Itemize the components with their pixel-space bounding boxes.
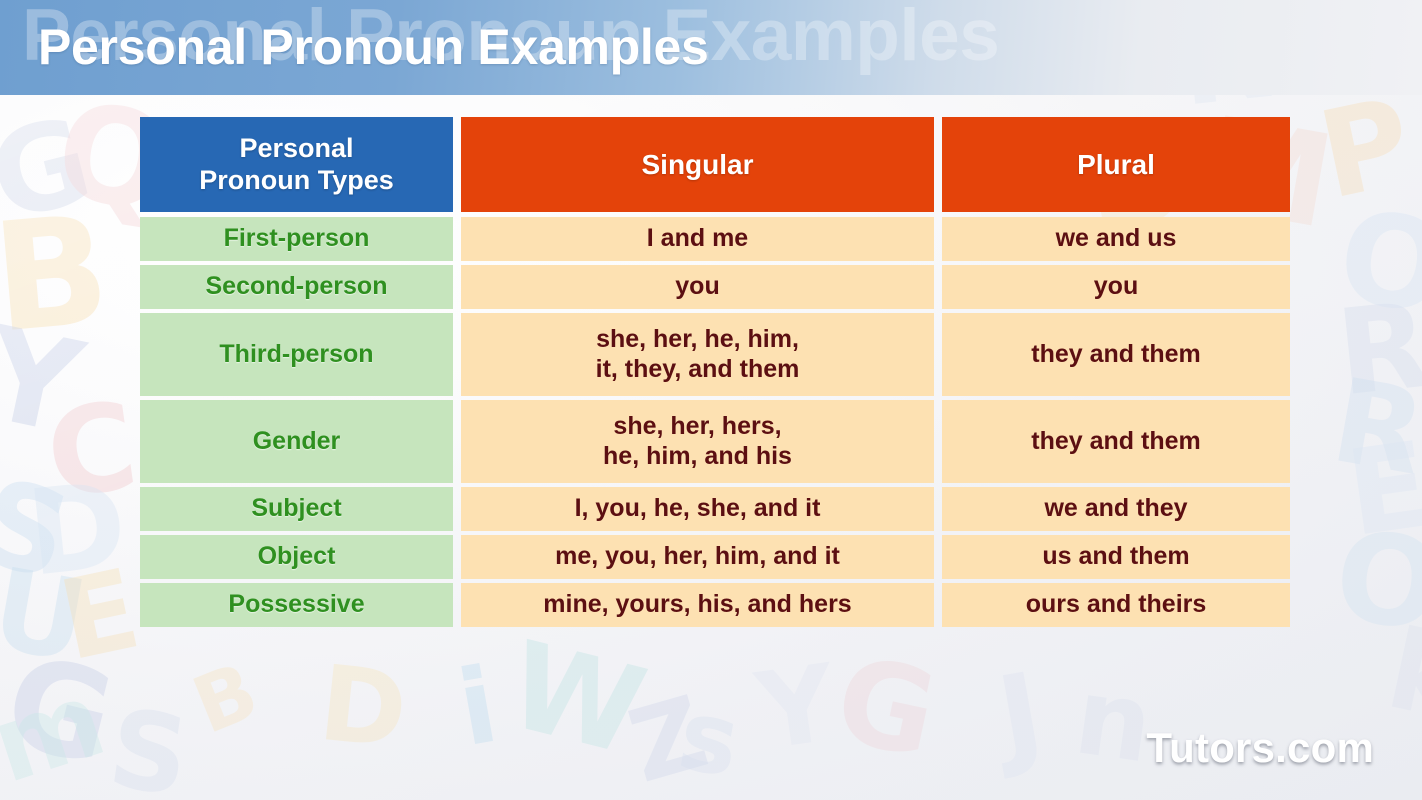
cell-singular-line1: you	[675, 272, 719, 302]
column-header-line1: Personal	[199, 133, 394, 165]
cell-pronoun-type: Gender	[140, 400, 453, 483]
table-row: SubjectI, you, he, she, and itwe and the…	[140, 487, 1282, 531]
cell-plural: you	[942, 265, 1290, 309]
column-header-singular: Singular	[461, 117, 934, 212]
cell-singular-line1: me, you, her, him, and it	[555, 542, 840, 572]
cell-singular-line1: I and me	[647, 224, 748, 254]
cell-plural: they and them	[942, 313, 1290, 396]
cell-pronoun-type: Object	[140, 535, 453, 579]
cell-singular: you	[461, 265, 934, 309]
background-letter: J	[991, 657, 1050, 772]
table-row: Second-personyouyou	[140, 265, 1282, 309]
cell-singular-line1: she, her, he, him,	[596, 325, 800, 355]
page-title: Personal Pronoun Examples	[38, 18, 708, 76]
cell-singular-line2: it, they, and them	[596, 355, 800, 385]
table-row: Objectme, you, her, him, and itus and th…	[140, 535, 1282, 579]
background-letter: G	[827, 639, 946, 775]
cell-pronoun-type: Possessive	[140, 583, 453, 627]
cell-singular: I and me	[461, 217, 934, 261]
cell-singular: I, you, he, she, and it	[461, 487, 934, 531]
cell-singular-line2: he, him, and his	[603, 442, 792, 472]
background-letter: D	[315, 651, 412, 763]
table-header-row: Personal Pronoun Types Singular Plural	[140, 117, 1282, 212]
cell-singular: me, you, her, him, and it	[461, 535, 934, 579]
table-row: Possessivemine, yours, his, and hersours…	[140, 583, 1282, 627]
table-row: Gendershe, her, hers,he, him, and histhe…	[140, 400, 1282, 483]
cell-pronoun-type: Subject	[140, 487, 453, 531]
table-row: First-personI and mewe and us	[140, 217, 1282, 261]
cell-plural: they and them	[942, 400, 1290, 483]
table-body: First-personI and mewe and usSecond-pers…	[140, 217, 1282, 627]
cell-singular-line1: she, her, hers,	[603, 412, 792, 442]
brand-logo: Tutors.com	[1146, 724, 1374, 772]
table-row: Third-personshe, her, he, him,it, they, …	[140, 313, 1282, 396]
infographic-canvas: GQBYCSDUEGmSBDiWZsYGJnPORREOBMNk Persona…	[0, 0, 1422, 800]
cell-plural: we and they	[942, 487, 1290, 531]
cell-singular-line1: I, you, he, she, and it	[575, 494, 821, 524]
column-header-pronoun-types: Personal Pronoun Types	[140, 117, 453, 212]
cell-pronoun-type: Third-person	[140, 313, 453, 396]
cell-plural: we and us	[942, 217, 1290, 261]
cell-plural: ours and theirs	[942, 583, 1290, 627]
cell-pronoun-type: Second-person	[140, 265, 453, 309]
cell-pronoun-type: First-person	[140, 217, 453, 261]
cell-singular-line1: mine, yours, his, and hers	[543, 590, 851, 620]
column-header-plural: Plural	[942, 117, 1290, 212]
pronoun-table: Personal Pronoun Types Singular Plural F…	[140, 117, 1282, 631]
cell-singular: she, her, he, him,it, they, and them	[461, 313, 934, 396]
column-header-line2: Pronoun Types	[199, 165, 394, 197]
cell-plural: us and them	[942, 535, 1290, 579]
background-letter: S	[103, 695, 195, 800]
background-letter: B	[184, 652, 268, 747]
cell-singular: mine, yours, his, and hers	[461, 583, 934, 627]
cell-singular: she, her, hers,he, him, and his	[461, 400, 934, 483]
